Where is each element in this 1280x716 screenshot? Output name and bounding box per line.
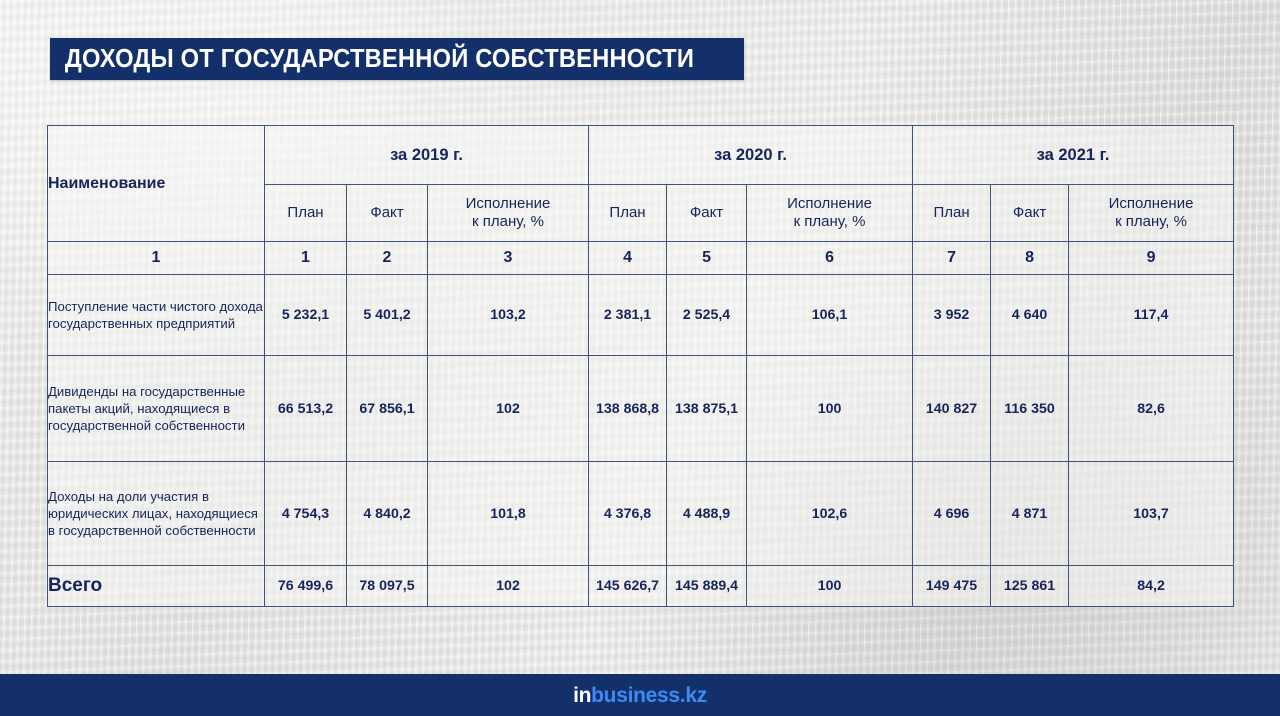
header-cell-plan-2020: План: [589, 185, 667, 242]
header-label-line2: к плану, %: [472, 213, 544, 230]
column-number-cell: 9: [1069, 242, 1234, 275]
logo-text-secondary: business.kz: [591, 685, 707, 706]
row-value: 4 376,8: [589, 462, 667, 566]
row-value: 102: [428, 356, 589, 462]
header-label-line1: План: [287, 204, 323, 221]
footer-bar: inbusiness.kz: [0, 674, 1280, 716]
row-value: 4 871: [991, 462, 1069, 566]
row-value: 4 640: [991, 275, 1069, 356]
logo-text-primary: in: [573, 685, 591, 706]
column-number-cell: 4: [589, 242, 667, 275]
header-label-line2: к плану, %: [794, 213, 866, 230]
row-value: 101,8: [428, 462, 589, 566]
header-label-line2: к плану, %: [1115, 213, 1187, 230]
row-value: 5 401,2: [347, 275, 428, 356]
row-value: 116 350: [991, 356, 1069, 462]
header-label-line1: Факт: [1013, 204, 1046, 221]
header-cell-execution-2020: Исполнение к плану, %: [747, 185, 913, 242]
row-value: 138 868,8: [589, 356, 667, 462]
header-cell-year-2019: за 2019 г.: [265, 126, 589, 185]
table-header-row-years: Наименование за 2019 г. за 2020 г. за 20…: [48, 126, 1234, 185]
total-value: 100: [747, 566, 913, 607]
row-value: 140 827: [913, 356, 991, 462]
header-label-line1: Исполнение: [787, 195, 872, 212]
column-number-cell: 6: [747, 242, 913, 275]
total-value: 84,2: [1069, 566, 1234, 607]
title-banner: ДОХОДЫ ОТ ГОСУДАРСТВЕННОЙ СОБСТВЕННОСТИ: [50, 38, 744, 80]
row-label: Доходы на доли участия в юридических лиц…: [48, 462, 265, 566]
column-number-cell: 1: [265, 242, 347, 275]
column-number-cell: 8: [991, 242, 1069, 275]
column-number-cell: 7: [913, 242, 991, 275]
header-cell-name: Наименование: [48, 126, 265, 242]
row-value: 82,6: [1069, 356, 1234, 462]
row-value: 2 525,4: [667, 275, 747, 356]
header-cell-execution-2021: Исполнение к плану, %: [1069, 185, 1234, 242]
table-row: Доходы на доли участия в юридических лиц…: [48, 462, 1234, 566]
header-cell-execution-2019: Исполнение к плану, %: [428, 185, 589, 242]
header-label-line1: Факт: [690, 204, 723, 221]
row-value: 106,1: [747, 275, 913, 356]
row-label: Дивиденды на государственные пакеты акци…: [48, 356, 265, 462]
row-value: 103,2: [428, 275, 589, 356]
row-value: 67 856,1: [347, 356, 428, 462]
header-label-line1: Факт: [370, 204, 403, 221]
column-number-cell: 2: [347, 242, 428, 275]
inbusiness-logo[interactable]: inbusiness.kz: [573, 685, 707, 706]
row-value: 2 381,1: [589, 275, 667, 356]
total-value: 76 499,6: [265, 566, 347, 607]
total-value: 78 097,5: [347, 566, 428, 607]
table-column-number-row: 1 1 2 3 4 5 6 7 8 9: [48, 242, 1234, 275]
header-cell-year-2021: за 2021 г.: [913, 126, 1234, 185]
row-value: 5 232,1: [265, 275, 347, 356]
header-cell-fact-2019: Факт: [347, 185, 428, 242]
total-value: 149 475: [913, 566, 991, 607]
revenue-table: Наименование за 2019 г. за 2020 г. за 20…: [47, 125, 1234, 607]
revenue-table-container: Наименование за 2019 г. за 2020 г. за 20…: [47, 125, 1233, 607]
table-row: Дивиденды на государственные пакеты акци…: [48, 356, 1234, 462]
total-value: 145 889,4: [667, 566, 747, 607]
row-value: 117,4: [1069, 275, 1234, 356]
row-value: 103,7: [1069, 462, 1234, 566]
header-label-line1: План: [933, 204, 969, 221]
header-label-line1: Исполнение: [1109, 195, 1194, 212]
total-value: 102: [428, 566, 589, 607]
column-number-cell: 5: [667, 242, 747, 275]
header-cell-plan-2019: План: [265, 185, 347, 242]
row-value: 138 875,1: [667, 356, 747, 462]
header-cell-year-2020: за 2020 г.: [589, 126, 913, 185]
row-label: Поступление части чистого дохода государ…: [48, 275, 265, 356]
row-value: 4 754,3: [265, 462, 347, 566]
table-row: Поступление части чистого дохода государ…: [48, 275, 1234, 356]
page-title: ДОХОДЫ ОТ ГОСУДАРСТВЕННОЙ СОБСТВЕННОСТИ: [50, 45, 694, 74]
row-value: 66 513,2: [265, 356, 347, 462]
table-row-total: Всего 76 499,6 78 097,5 102 145 626,7 14…: [48, 566, 1234, 607]
header-cell-fact-2021: Факт: [991, 185, 1069, 242]
column-number-cell: 1: [48, 242, 265, 275]
row-value: 3 952: [913, 275, 991, 356]
header-cell-fact-2020: Факт: [667, 185, 747, 242]
row-value: 4 840,2: [347, 462, 428, 566]
row-value: 100: [747, 356, 913, 462]
row-value: 102,6: [747, 462, 913, 566]
row-value: 4 696: [913, 462, 991, 566]
header-label-line1: Исполнение: [466, 195, 551, 212]
column-number-cell: 3: [428, 242, 589, 275]
total-value: 145 626,7: [589, 566, 667, 607]
total-label: Всего: [48, 566, 265, 607]
total-value: 125 861: [991, 566, 1069, 607]
row-value: 4 488,9: [667, 462, 747, 566]
header-label-line1: План: [609, 204, 645, 221]
header-cell-plan-2021: План: [913, 185, 991, 242]
